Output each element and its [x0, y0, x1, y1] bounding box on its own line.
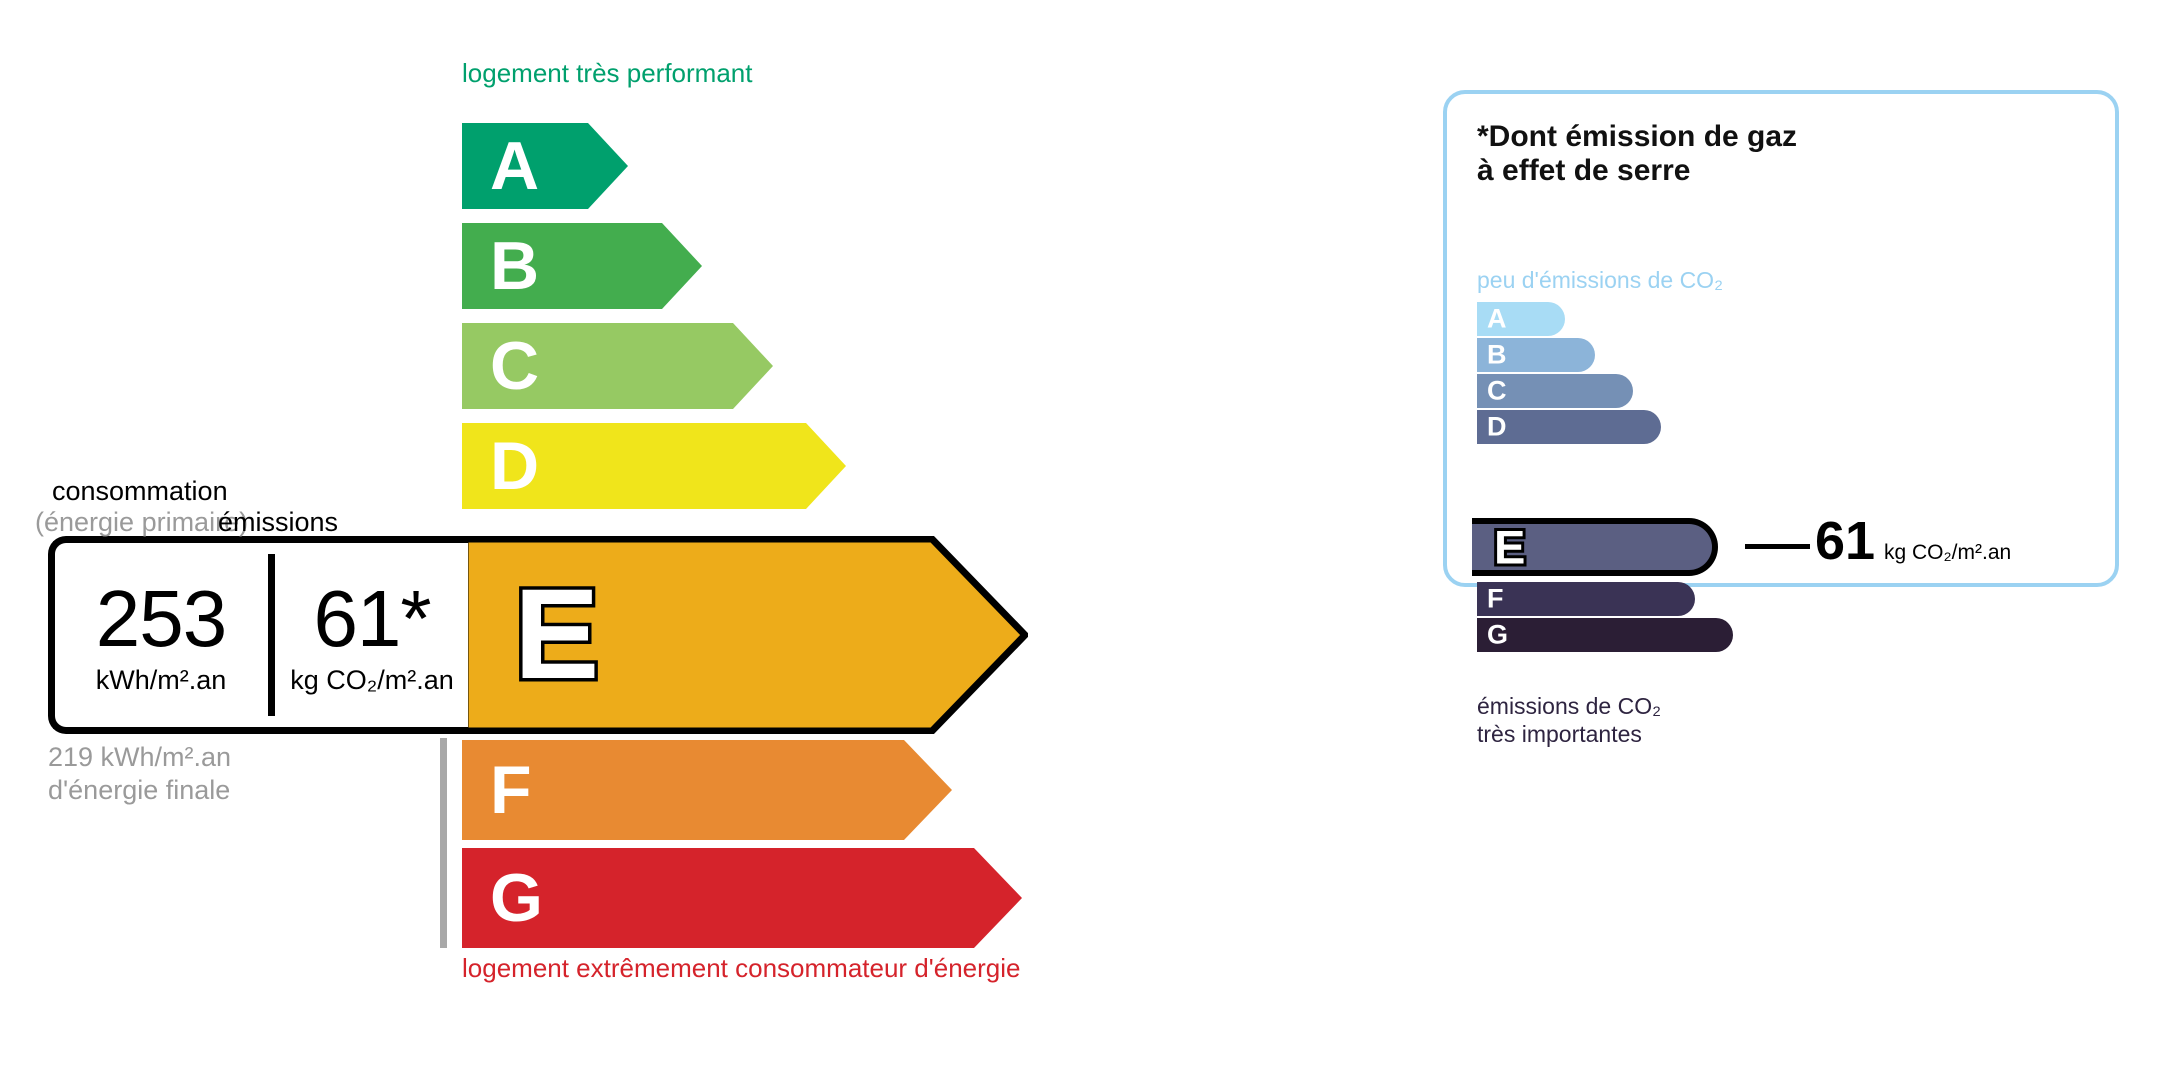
- ges-bar-c: C: [1477, 374, 1633, 408]
- energy-bar-b: B: [462, 223, 702, 309]
- label-energie-primaire: (énergie primaire): [35, 507, 248, 538]
- ges-bar-a: A: [1477, 302, 1565, 336]
- ges-bar-letter-g: G: [1487, 622, 1508, 649]
- ges-bar-d: D: [1477, 410, 1661, 444]
- ges-bar-letter-a: A: [1487, 306, 1507, 333]
- energy-bar-e-highlighted: E: [462, 536, 1028, 734]
- energy-bar-letter-a: A: [490, 132, 539, 200]
- ges-bar-f: F: [1477, 582, 1695, 616]
- ges-top-caption: peu d'émissions de CO₂: [1477, 267, 1723, 294]
- dpe-energy-scale: logement très performant A B C D E: [0, 0, 1420, 1079]
- energy-bar-d: D: [462, 423, 846, 509]
- energy-bar-letter-e: E: [514, 571, 599, 699]
- energy-bar-c: C: [462, 323, 773, 409]
- label-consommation: consommation: [52, 476, 228, 507]
- ges-bar-letter-b: B: [1487, 342, 1507, 369]
- arrow-shape-a: [462, 123, 628, 209]
- energy-bar-a: A: [462, 123, 628, 209]
- energy-scale-top-caption: logement très performant: [462, 58, 752, 89]
- arrow-shape-g: [462, 848, 1022, 948]
- emissions-unit: kg CO₂/m².an: [272, 665, 472, 696]
- ges-value-leader-line: [1745, 544, 1810, 549]
- primary-energy-value-cell: 253 kWh/m².an: [48, 581, 274, 696]
- label-emissions: émissions: [218, 507, 338, 538]
- energy-bar-letter-b: B: [490, 232, 539, 300]
- ges-value-unit: kg CO₂/m².an: [1884, 541, 2011, 565]
- primary-energy-unit: kWh/m².an: [48, 665, 274, 696]
- emissions-value-cell: 61* kg CO₂/m².an: [272, 581, 472, 696]
- passoire-energetique-marker: [440, 738, 447, 948]
- primary-energy-value: 253: [48, 581, 274, 657]
- energy-bar-g: G: [462, 848, 1022, 948]
- energy-bar-letter-g: G: [490, 864, 543, 932]
- energy-scale-bottom-caption: logement extrêmement consommateur d'éner…: [462, 953, 1020, 984]
- energy-bar-letter-f: F: [490, 756, 532, 824]
- emissions-value: 61*: [272, 581, 472, 657]
- ges-bar-g: G: [1477, 618, 1733, 652]
- final-energy-value: 219 kWh/m².an: [48, 742, 231, 773]
- ges-bar-b: B: [1477, 338, 1595, 372]
- ges-panel-title: *Dont émission de gaz à effet de serre: [1477, 120, 1797, 187]
- ges-value: 61: [1815, 514, 1875, 568]
- ges-bar-letter-c: C: [1487, 378, 1507, 405]
- energy-bar-letter-d: D: [490, 432, 539, 500]
- energy-bar-letter-c: C: [490, 332, 539, 400]
- arrow-shape-f: [462, 740, 952, 840]
- ges-bar-letter-d: D: [1487, 414, 1507, 441]
- ges-bar-letter-e: E: [1494, 524, 1525, 571]
- final-energy-label: d'énergie finale: [48, 775, 230, 806]
- energy-bar-f: F: [462, 740, 952, 840]
- ges-bar-letter-f: F: [1487, 586, 1504, 613]
- ges-bottom-caption: émissions de CO₂ très importantes: [1477, 692, 1661, 748]
